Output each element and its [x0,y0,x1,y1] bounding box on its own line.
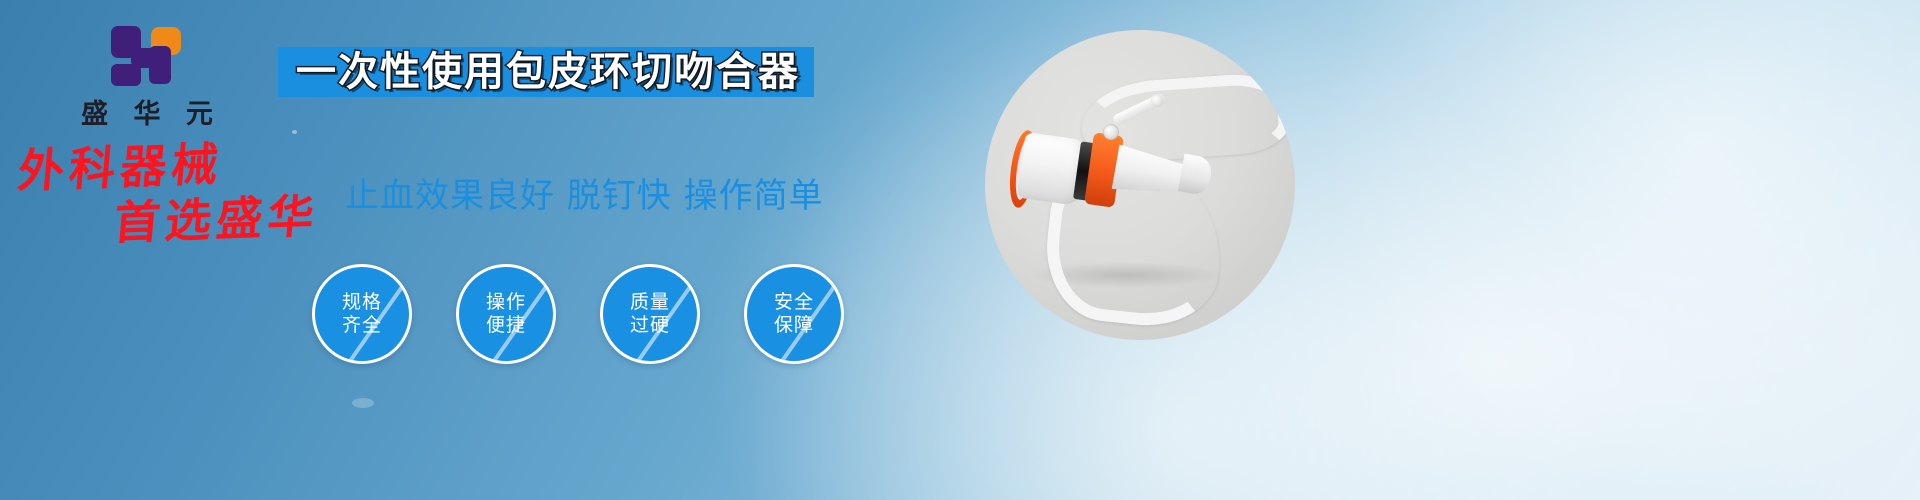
feature-badge-4-line1: 安全 [774,291,814,314]
page-title: 一次性使用包皮环切吻合器 [296,52,800,92]
feature-badge-2-line2: 便捷 [486,314,526,337]
feature-badge-3-line2: 过硬 [630,314,670,337]
product-nose-tip [1178,154,1214,197]
feature-badge-1-line2: 齐全 [342,314,382,337]
feature-badge-4[interactable]: 安全 保障 [744,264,844,364]
calligraphy-line-2: 首选盛华 [112,191,361,245]
company-name: 盛 华 元 [62,92,232,131]
feature-badge-1-line1: 规格 [342,291,382,314]
product-hinge-pivot [1103,124,1119,140]
calligraphy-slogan: 外科器械 首选盛华 [18,148,358,246]
feature-badge-4-line2: 保障 [774,314,814,337]
bokeh-speck [292,130,297,134]
feature-badge-1[interactable]: 规格 齐全 [312,264,412,364]
feature-badge-3[interactable]: 质量 过硬 [600,264,700,364]
logo-shape-bottom-left [111,64,141,86]
feature-badge-2-line1: 操作 [486,291,526,314]
main-title-bar: 一次性使用包皮环切吻合器 [278,47,814,97]
product-secondary-pivot [1151,94,1164,107]
subtitle: 止血效果良好 脱钉快 操作简单 [345,168,824,217]
logo-shape-bottom-right [149,46,171,84]
feature-badge-2[interactable]: 操作 便捷 [456,264,556,364]
logo-mark-icon [111,26,183,86]
product-image-circle [985,30,1295,340]
feature-badge-3-line1: 质量 [630,291,670,314]
promotional-banner: 盛 华 元 外科器械 首选盛华 一次性使用包皮环切吻合器 止血效果良好 脱钉快 … [0,0,1920,500]
calligraphy-line-1: 外科器械 [16,136,361,194]
bokeh-speck [352,398,374,408]
company-logo: 盛 华 元 [62,26,232,131]
feature-badges: 规格 齐全 操作 便捷 质量 过硬 安全 保障 [312,264,844,364]
